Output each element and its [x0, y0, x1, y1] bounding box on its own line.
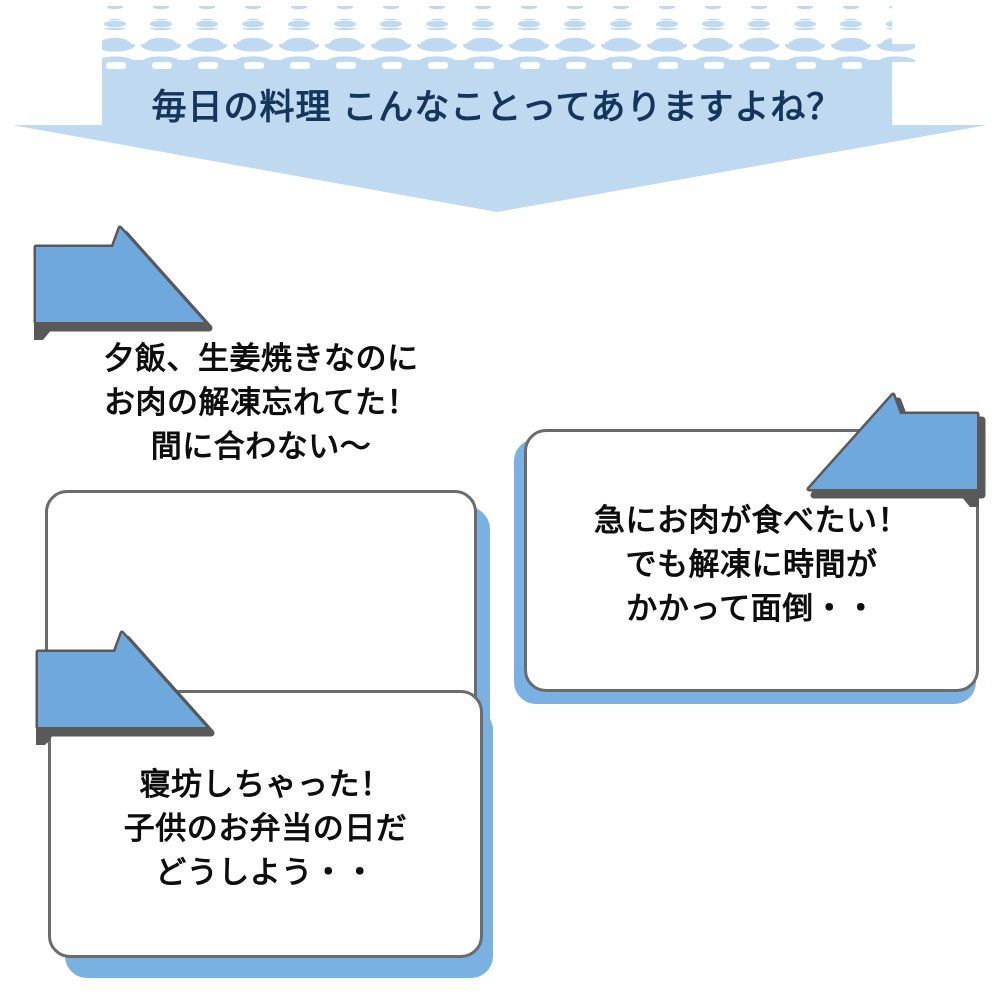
speech-bubble-3: 寝坊しちゃった！ 子供のお弁当の日だ どうしよう・・	[0, 660, 520, 1000]
banner-halftone-pattern	[102, 6, 915, 74]
speech-bubble-2: 急にお肉が食べたい！ でも解凍に時間が かかって面倒・・	[500, 392, 1000, 732]
flag-arrow-right-icon	[790, 392, 1000, 507]
header-banner: 毎日の料理 こんなことってありますよね？	[0, 0, 1000, 230]
bubble-text: 急にお肉が食べたい！ でも解凍に時間が かかって面倒・・	[524, 499, 979, 631]
poster-canvas: 毎日の料理 こんなことってありますよね？ 夕飯、生姜焼きなのに お肉の解凍忘れて…	[0, 0, 1000, 1000]
speech-bubble-1: 夕飯、生姜焼きなのに お肉の解凍忘れてた！ 間に合わない〜	[0, 225, 500, 565]
bubble-text: 寝坊しちゃった！ 子供のお弁当の日だ どうしよう・・	[48, 763, 483, 895]
bubble-text: 夕飯、生姜焼きなのに お肉の解凍忘れてた！ 間に合わない〜	[45, 337, 477, 469]
flag-arrow-left-icon	[8, 225, 223, 340]
header-title: 毎日の料理 こんなことってありますよね？	[102, 86, 892, 130]
flag-arrow-left-icon	[10, 630, 225, 745]
